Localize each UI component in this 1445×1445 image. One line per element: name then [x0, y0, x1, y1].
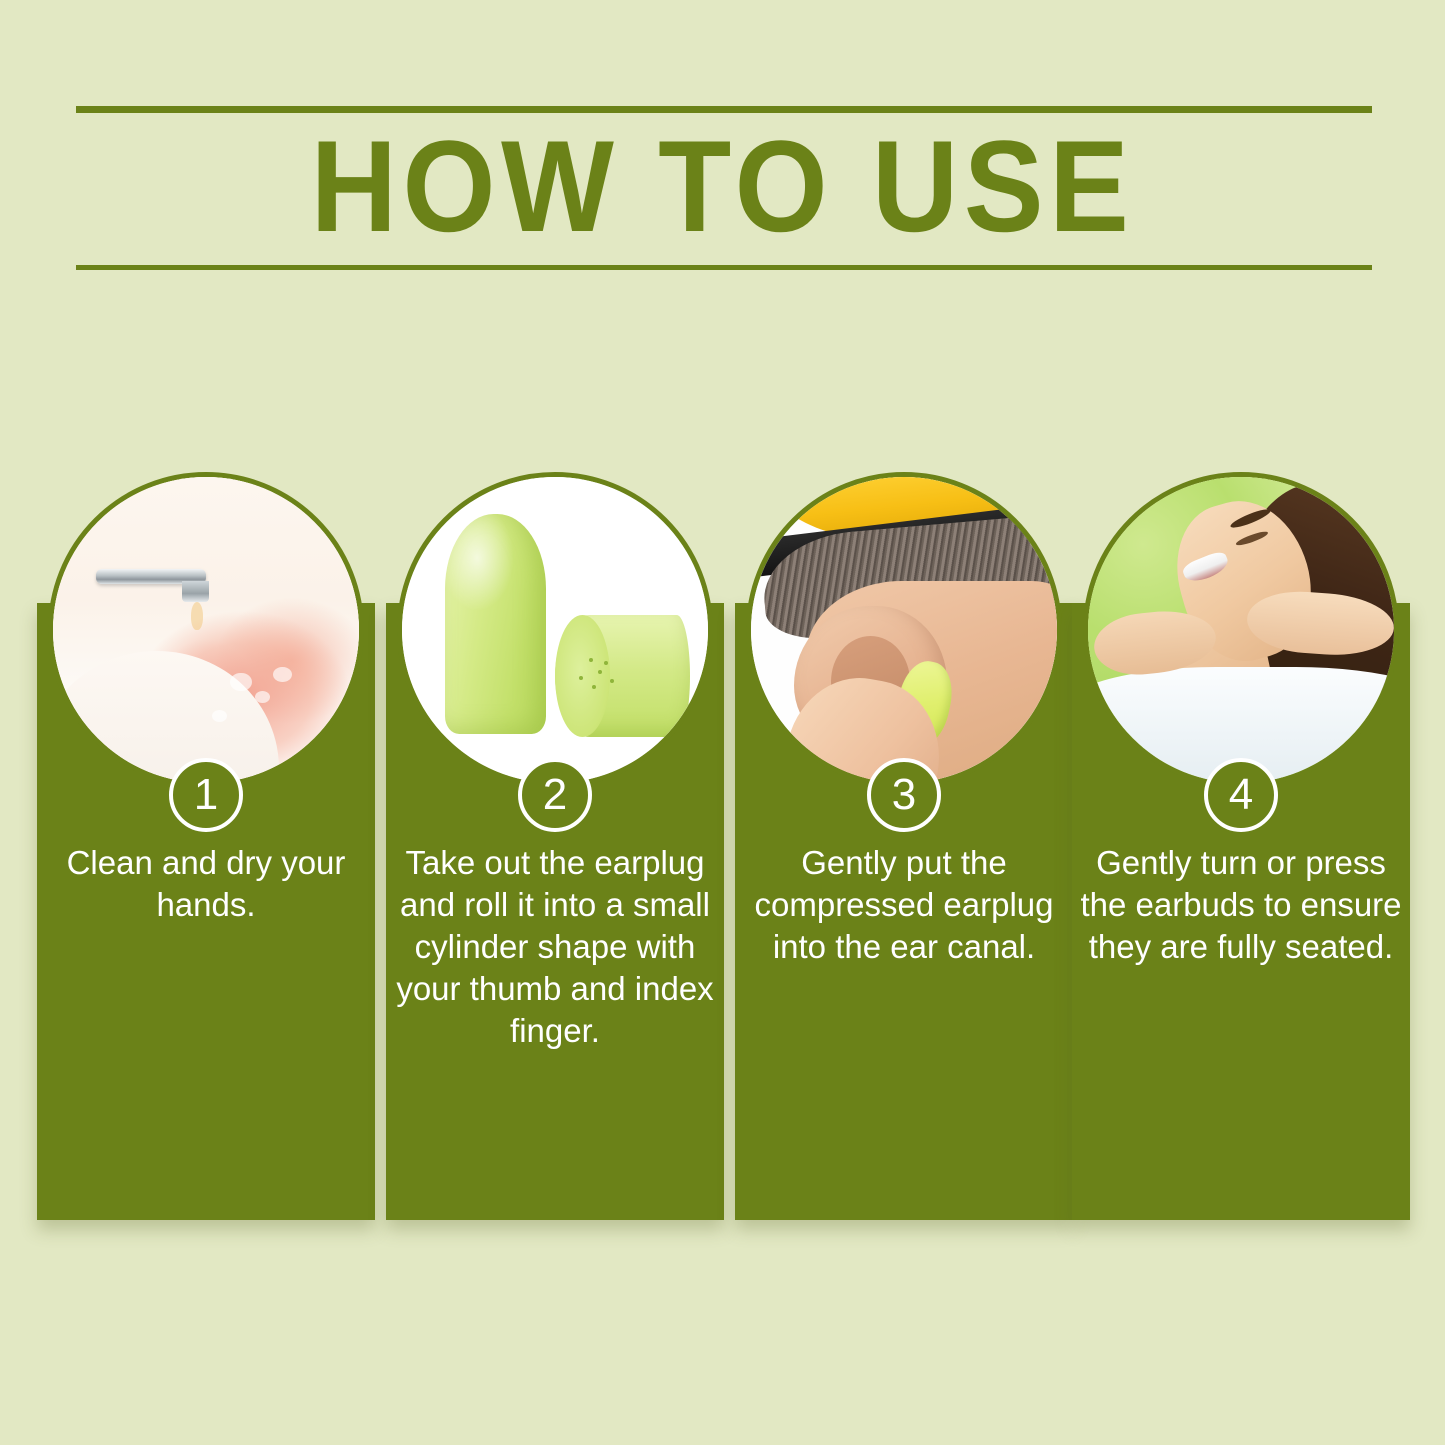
- step-number-badge-3: 3: [867, 758, 941, 832]
- foam-bubble: [230, 673, 251, 691]
- step-caption-3: Gently put the compressed earplug into t…: [741, 842, 1067, 968]
- step-number-badge-2: 2: [518, 758, 592, 832]
- woman-relaxing-image: [1088, 477, 1394, 783]
- foam-pore: [604, 661, 608, 665]
- step-photo-4: [1083, 472, 1399, 788]
- foam-bubble: [273, 667, 291, 682]
- step-number-badge-4: 4: [1204, 758, 1278, 832]
- step-photo-3: [746, 472, 1062, 788]
- earplugs-image: [402, 477, 708, 783]
- foam-pore: [598, 670, 602, 674]
- steps-container: 1 Clean and dry your hands. 2 Take out t…: [0, 0, 1445, 1445]
- step-caption-1: Clean and dry your hands.: [43, 842, 369, 926]
- earplug-upright-shape: [445, 514, 546, 734]
- step-caption-4: Gently turn or press the earbuds to ensu…: [1078, 842, 1404, 968]
- ear-insertion-image: [751, 477, 1057, 783]
- sink-bowl-shape: [48, 651, 279, 788]
- foam-pore: [592, 685, 596, 689]
- foam-bubble: [212, 710, 227, 722]
- step-photo-2: [397, 472, 713, 788]
- step-number-badge-1: 1: [169, 758, 243, 832]
- foam-bubble: [255, 691, 270, 703]
- hands-washing-image: [53, 477, 359, 783]
- foam-pore: [610, 679, 614, 683]
- step-caption-2: Take out the earplug and roll it into a …: [392, 842, 718, 1052]
- water-drop-shape: [191, 602, 203, 630]
- faucet-spout-shape: [182, 581, 210, 602]
- step-photo-1: [48, 472, 364, 788]
- foam-pore: [589, 658, 593, 662]
